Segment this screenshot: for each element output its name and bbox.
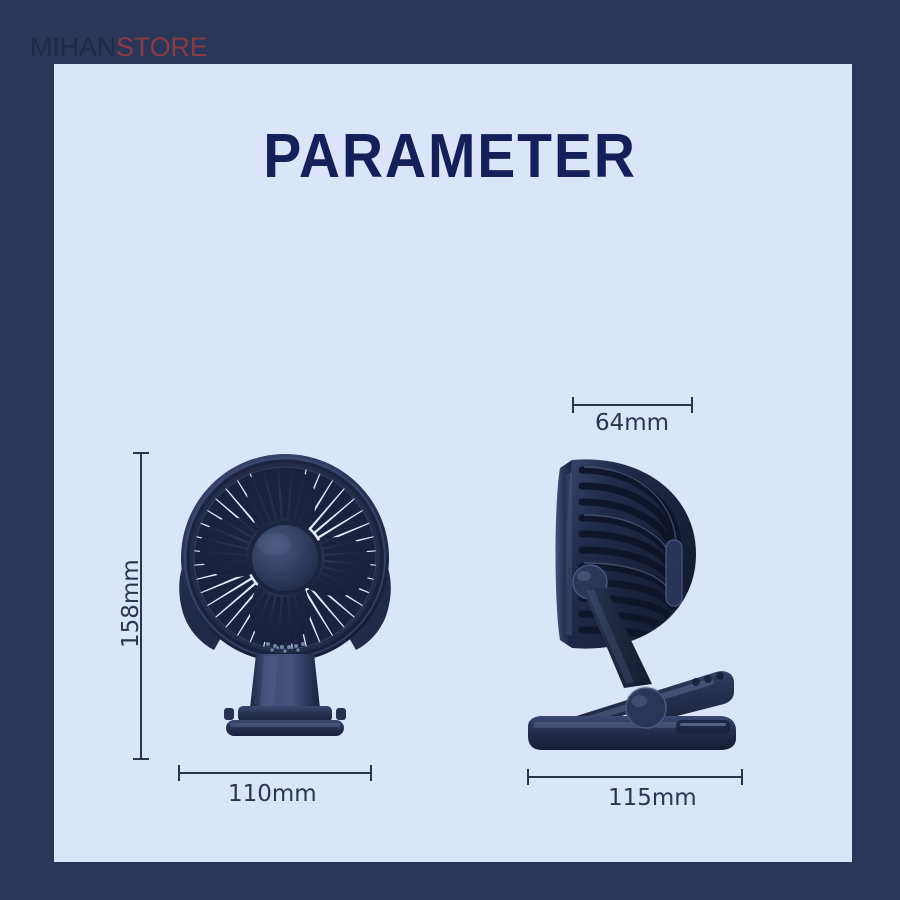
fan-front-illustration <box>160 440 410 760</box>
brand-logo: MIHANSTORE <box>30 34 208 61</box>
dimension-label-base-width: 115mm <box>608 787 697 810</box>
clip-grip-pad <box>676 720 730 734</box>
dimension-line-depth <box>572 404 693 406</box>
fan-side-panel <box>666 540 682 606</box>
brand-name-accent: STORE <box>116 32 208 62</box>
clip-fan-front-view <box>160 440 410 760</box>
dimension-cap-base-right <box>741 769 743 785</box>
clip-hinge <box>626 688 666 728</box>
fan-hub <box>252 525 318 591</box>
dimension-label-depth: 64mm <box>595 412 669 435</box>
dimension-line-base-width <box>527 776 743 778</box>
dimension-cap-height-bottom <box>133 758 149 760</box>
fan-base-clip <box>224 706 346 736</box>
clip-fan-side-view <box>520 430 770 770</box>
fan-side-illustration <box>520 430 770 770</box>
dimension-cap-depth-left <box>572 397 574 413</box>
dimension-cap-depth-right <box>691 397 693 413</box>
dimension-line-width <box>178 772 372 774</box>
product-parameter-slide: MIHANSTORE PARAMETER <box>0 0 900 900</box>
brand-name-primary: MIHAN <box>30 32 116 62</box>
dimension-cap-base-left <box>527 769 529 785</box>
dimension-cap-width-left <box>178 765 180 781</box>
dimension-cap-width-right <box>370 765 372 781</box>
dimension-cap-height-top <box>133 452 149 454</box>
page-title: PARAMETER <box>36 126 864 188</box>
dimension-label-width: 110mm <box>228 783 317 806</box>
dimension-label-height: 158mm <box>120 559 143 648</box>
